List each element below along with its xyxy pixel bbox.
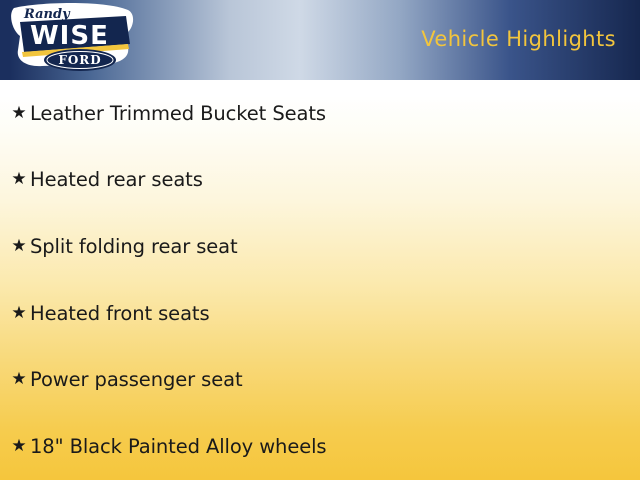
vehicle-highlights-page: Randy WISE FORD Vehicle Highlights ★ Lea… xyxy=(0,0,640,480)
star-icon: ★ xyxy=(8,171,30,188)
list-item-label: Heated front seats xyxy=(30,302,210,325)
list-item-label: Split folding rear seat xyxy=(30,235,238,258)
list-item-label: 18" Black Painted Alloy wheels xyxy=(30,435,327,458)
list-item-label: Leather Trimmed Bucket Seats xyxy=(30,102,326,125)
logo-line3: FORD xyxy=(58,53,101,67)
page-header: Randy WISE FORD Vehicle Highlights xyxy=(0,0,640,80)
star-icon: ★ xyxy=(8,105,30,122)
list-item: ★ Leather Trimmed Bucket Seats xyxy=(0,80,640,147)
star-icon: ★ xyxy=(8,305,30,322)
logo-line2: WISE xyxy=(30,21,109,51)
list-item: ★ Heated front seats xyxy=(0,280,640,347)
list-item: ★ Heated rear seats xyxy=(0,147,640,214)
logo-line1: Randy xyxy=(23,7,71,22)
vehicle-highlights-list: ★ Leather Trimmed Bucket Seats ★ Heated … xyxy=(0,80,640,480)
list-item: ★ 18" Black Painted Alloy wheels xyxy=(0,413,640,480)
page-title: Vehicle Highlights xyxy=(421,27,616,51)
randy-wise-ford-logo: Randy WISE FORD xyxy=(8,2,138,78)
list-item-label: Power passenger seat xyxy=(30,368,243,391)
list-item: ★ Split folding rear seat xyxy=(0,213,640,280)
list-item-label: Heated rear seats xyxy=(30,168,203,191)
star-icon: ★ xyxy=(8,238,30,255)
star-icon: ★ xyxy=(8,438,30,455)
star-icon: ★ xyxy=(8,371,30,388)
list-item: ★ Power passenger seat xyxy=(0,346,640,413)
